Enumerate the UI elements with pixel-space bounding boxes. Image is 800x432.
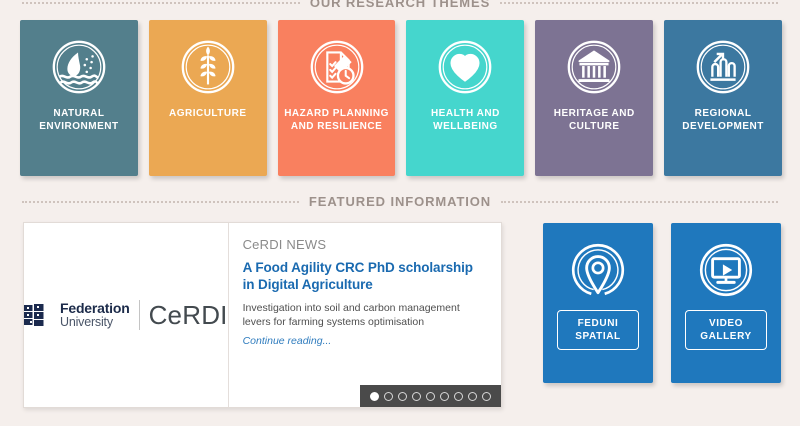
quick-link-tile-video-gallery[interactable]: VIDEO GALLERY <box>671 223 781 383</box>
quick-link-tiles: FEDUNI SPATIAL VIDEO GALLERY <box>543 222 781 383</box>
logo-secondary-brand: CeRDI <box>149 300 228 331</box>
carousel-dots <box>360 385 501 407</box>
logo-brand-line2: University <box>60 316 130 329</box>
featured-information-heading: FEATURED INFORMATION <box>0 194 800 209</box>
quick-link-tile-feduni-spatial[interactable]: FEDUNI SPATIAL <box>543 223 653 383</box>
wheat-stalk-icon <box>177 36 239 98</box>
news-kicker: CeRDI NEWS <box>243 237 485 252</box>
bottom-strip <box>0 426 800 432</box>
carousel-dot[interactable] <box>440 392 449 401</box>
logo-divider <box>139 300 140 330</box>
map-pin-location-icon <box>565 237 631 303</box>
theme-label: HERITAGE AND CULTURE <box>538 107 651 133</box>
video-play-monitor-icon <box>693 237 759 303</box>
carousel-dot[interactable] <box>412 392 421 401</box>
carousel-dot[interactable] <box>426 392 435 401</box>
leaf-water-droplets-icon <box>48 36 110 98</box>
featured-rule-right <box>501 201 778 203</box>
continue-reading-link[interactable]: Continue reading... <box>243 335 485 347</box>
carousel-dot[interactable] <box>384 392 393 401</box>
heading-rule-right <box>500 2 778 4</box>
heart-icon <box>434 36 496 98</box>
quick-link-label: VIDEO GALLERY <box>685 310 767 350</box>
carousel-dot[interactable] <box>468 392 477 401</box>
news-logo-pane: Federation University CeRDI <box>24 223 229 407</box>
research-themes-heading: OUR RESEARCH THEMES <box>0 0 800 10</box>
featured-rule-left <box>22 201 299 203</box>
page-root: OUR RESEARCH THEMES NATUR <box>0 0 800 432</box>
theme-label: HEALTH AND WELLBEING <box>409 107 522 133</box>
research-theme-tiles: NATURAL ENVIRONMENT <box>20 20 782 176</box>
federation-university-squares-logo <box>24 304 51 326</box>
theme-tile-regional-development[interactable]: REGIONAL DEVELOPMENT <box>664 20 782 176</box>
theme-label: NATURAL ENVIRONMENT <box>22 107 135 133</box>
theme-label: REGIONAL DEVELOPMENT <box>667 107 780 133</box>
featured-content-row: Federation University CeRDI CeRDI NEWS A… <box>23 222 781 412</box>
carousel-dot[interactable] <box>370 392 379 401</box>
theme-label: AGRICULTURE <box>151 107 264 120</box>
news-carousel-card: Federation University CeRDI CeRDI NEWS A… <box>23 222 502 408</box>
news-headline-link[interactable]: A Food Agility CRC PhD scholarship in Di… <box>243 259 485 293</box>
logo-brand-line1: Federation <box>60 301 130 315</box>
theme-tile-heritage-and-culture[interactable]: HERITAGE AND CULTURE <box>535 20 653 176</box>
carousel-dot[interactable] <box>454 392 463 401</box>
news-summary: Investigation into soil and carbon manag… <box>243 301 485 329</box>
theme-tile-natural-environment[interactable]: NATURAL ENVIRONMENT <box>20 20 138 176</box>
theme-label: HAZARD PLANNING AND RESILIENCE <box>280 107 393 133</box>
heading-rule-left <box>22 2 300 4</box>
carousel-dot[interactable] <box>482 392 491 401</box>
checklist-clipboard-clock-icon <box>306 36 368 98</box>
research-themes-title: OUR RESEARCH THEMES <box>310 0 490 10</box>
quick-link-label: FEDUNI SPATIAL <box>557 310 639 350</box>
theme-tile-health-and-wellbeing[interactable]: HEALTH AND WELLBEING <box>406 20 524 176</box>
theme-tile-hazard-planning-and-resilience[interactable]: HAZARD PLANNING AND RESILIENCE <box>278 20 396 176</box>
theme-tile-agriculture[interactable]: AGRICULTURE <box>149 20 267 176</box>
carousel-dot[interactable] <box>398 392 407 401</box>
classical-building-icon <box>563 36 625 98</box>
featured-information-title: FEATURED INFORMATION <box>309 194 491 209</box>
news-text-pane: CeRDI NEWS A Food Agility CRC PhD schola… <box>229 223 501 407</box>
bar-chart-arrow-up-icon <box>692 36 754 98</box>
